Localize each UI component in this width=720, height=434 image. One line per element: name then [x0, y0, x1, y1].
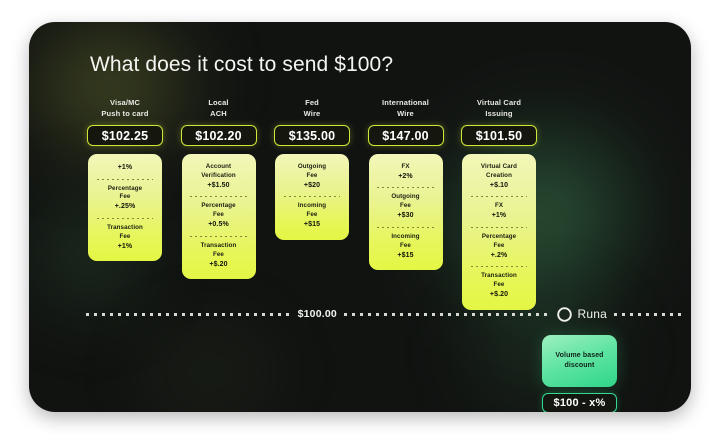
fee-value: +0.5% — [187, 220, 251, 231]
fee-value: +$15 — [280, 220, 344, 231]
fee-label: Virtual CardCreation — [467, 163, 531, 181]
fee-label-line1: Percentage — [201, 202, 235, 209]
fee-separator — [471, 266, 527, 267]
baseline-amount: $100.00 — [298, 308, 337, 320]
fee-label-line1: Outgoing — [298, 163, 326, 170]
column-total-price: $135.00 — [274, 125, 350, 146]
column-header-line2: Issuing — [485, 109, 512, 118]
fee-separator — [471, 196, 527, 197]
fee-item: PercentageFee+.2% — [467, 233, 531, 261]
fee-label-line2: Fee — [213, 211, 224, 218]
fee-label: AccountVerification — [187, 163, 251, 181]
column-header-line2: Push to card — [101, 109, 148, 118]
fee-item: OutgoingFee+$20 — [280, 163, 344, 191]
fee-label: PercentageFee — [93, 185, 157, 203]
column-header-line1: International — [382, 98, 429, 107]
column-header-line1: Local — [208, 98, 228, 107]
fee-label: FX — [467, 202, 531, 211]
fee-label: PercentageFee — [467, 233, 531, 251]
fee-label-line2: Fee — [307, 172, 318, 179]
volume-discount-label-line1: Volume based — [555, 352, 603, 359]
fee-value: +$30 — [374, 211, 438, 222]
fee-item: FX+1% — [467, 202, 531, 221]
fee-label-line2: Fee — [120, 233, 131, 240]
fee-item: IncomingFee+$15 — [374, 233, 438, 261]
screenshot-root: What does it cost to send $100? Visa/MCP… — [0, 0, 720, 434]
fee-value: +1% — [467, 211, 531, 222]
fee-label-line2: Fee — [213, 251, 224, 258]
volume-discount-label-line2: discount — [565, 362, 595, 369]
baseline-dots-left — [86, 313, 291, 316]
column-header: Visa/MCPush to card — [101, 98, 148, 121]
fee-label-line2: Fee — [494, 281, 505, 288]
fee-item: PercentageFee+.25% — [93, 185, 157, 213]
fee-value: +$.20 — [467, 290, 531, 301]
fee-item: Virtual CardCreation+$.10 — [467, 163, 531, 191]
fee-value: +$15 — [374, 251, 438, 262]
baseline-dots-right — [614, 313, 686, 316]
fee-label-line1: Percentage — [482, 233, 516, 240]
fee-value: +$1.50 — [187, 181, 251, 192]
fee-value: +1% — [93, 163, 157, 174]
fee-label: PercentageFee — [187, 202, 251, 220]
fee-label: OutgoingFee — [280, 163, 344, 181]
column-header-line1: Visa/MC — [110, 98, 140, 107]
fee-value: +.25% — [93, 202, 157, 213]
fee-label-line1: Transaction — [201, 242, 237, 249]
fee-separator — [377, 187, 433, 188]
fee-label: TransactionFee — [187, 242, 251, 260]
cost-column: InternationalWire$147.00FX+2%OutgoingFee… — [367, 98, 445, 310]
column-total-price: $102.20 — [181, 125, 257, 146]
runa-ring-icon — [556, 306, 573, 323]
fee-item: FX+2% — [374, 163, 438, 182]
column-header: Virtual CardIssuing — [477, 98, 521, 121]
fee-label-line1: Incoming — [391, 233, 419, 240]
fee-breakdown-card: OutgoingFee+$20IncomingFee+$15 — [275, 154, 349, 240]
fee-label: IncomingFee — [280, 202, 344, 220]
page-title: What does it cost to send $100? — [90, 53, 393, 77]
volume-discount-card: Volume based discount — [542, 335, 617, 387]
fee-label: OutgoingFee — [374, 193, 438, 211]
fee-value: +$.10 — [467, 181, 531, 192]
fee-separator — [471, 227, 527, 228]
cost-column: FedWire$135.00OutgoingFee+$20IncomingFee… — [273, 98, 351, 310]
fee-item: TransactionFee+1% — [93, 224, 157, 252]
fee-value: +$20 — [280, 181, 344, 192]
baseline-dots-middle — [344, 313, 549, 316]
fee-separator — [97, 179, 153, 180]
baseline-row: $100.00 Runa — [86, 308, 686, 320]
volume-discount-label: Volume based discount — [555, 351, 603, 372]
fee-label: TransactionFee — [467, 272, 531, 290]
fee-item: TransactionFee+$.20 — [467, 272, 531, 300]
fee-separator — [377, 227, 433, 228]
fee-label-line2: Creation — [486, 172, 512, 179]
fee-separator — [97, 218, 153, 219]
fee-label: TransactionFee — [93, 224, 157, 242]
fee-item: AccountVerification+$1.50 — [187, 163, 251, 191]
column-header-line2: ACH — [210, 109, 227, 118]
fee-breakdown-card: Virtual CardCreation+$.10FX+1%Percentage… — [462, 154, 536, 310]
cost-comparison-panel: What does it cost to send $100? Visa/MCP… — [29, 22, 691, 412]
column-header: FedWire — [304, 98, 321, 121]
fee-label-line1: FX — [495, 202, 503, 209]
column-header: LocalACH — [208, 98, 228, 121]
fee-breakdown-card: +1%PercentageFee+.25%TransactionFee+1% — [88, 154, 162, 261]
fee-label-line2: Fee — [120, 193, 131, 200]
fee-label: FX — [374, 163, 438, 172]
fee-label-line1: Percentage — [108, 185, 142, 192]
column-total-price: $101.50 — [461, 125, 537, 146]
fee-value: +.2% — [467, 251, 531, 262]
fee-label-line2: Fee — [400, 242, 411, 249]
fee-label-line1: Transaction — [481, 272, 517, 279]
cost-column: LocalACH$102.20AccountVerification+$1.50… — [180, 98, 258, 310]
column-total-price: $102.25 — [87, 125, 163, 146]
fee-label-line1: FX — [401, 163, 409, 170]
fee-label-line2: Fee — [307, 211, 318, 218]
fee-label-line1: Virtual Card — [481, 163, 517, 170]
fee-separator — [284, 196, 340, 197]
fee-label-line1: Transaction — [107, 224, 143, 231]
fee-value: +2% — [374, 172, 438, 183]
fee-label-line2: Fee — [494, 242, 505, 249]
cost-column: Visa/MCPush to card$102.25+1%PercentageF… — [86, 98, 164, 310]
fee-item: TransactionFee+$.20 — [187, 242, 251, 270]
runa-wordmark: Runa — [578, 307, 608, 321]
fee-label-line2: Verification — [201, 172, 236, 179]
column-header-line2: Wire — [397, 109, 414, 118]
fee-label-line1: Account — [206, 163, 231, 170]
fee-value: +$.20 — [187, 260, 251, 271]
column-header-line1: Virtual Card — [477, 98, 521, 107]
fee-item: PercentageFee+0.5% — [187, 202, 251, 230]
volume-discount-badge: $100 - x% — [542, 393, 617, 412]
fee-label-line2: Fee — [400, 202, 411, 209]
cost-columns: Visa/MCPush to card$102.25+1%PercentageF… — [86, 98, 538, 310]
column-header-line1: Fed — [305, 98, 319, 107]
fee-breakdown-card: AccountVerification+$1.50PercentageFee+0… — [182, 154, 256, 279]
column-header: InternationalWire — [382, 98, 429, 121]
fee-separator — [190, 196, 246, 197]
fee-label: IncomingFee — [374, 233, 438, 251]
fee-value: +1% — [93, 242, 157, 253]
fee-label-line1: Incoming — [298, 202, 326, 209]
fee-separator — [190, 236, 246, 237]
column-total-price: $147.00 — [368, 125, 444, 146]
cost-column: Virtual CardIssuing$101.50Virtual CardCr… — [460, 98, 538, 310]
fee-label-line1: Outgoing — [391, 193, 419, 200]
column-header-line2: Wire — [304, 109, 321, 118]
fee-item: OutgoingFee+$30 — [374, 193, 438, 221]
fee-breakdown-card: FX+2%OutgoingFee+$30IncomingFee+$15 — [369, 154, 443, 270]
fee-item: +1% — [93, 163, 157, 174]
fee-item: IncomingFee+$15 — [280, 202, 344, 230]
runa-logo: Runa — [556, 306, 608, 323]
